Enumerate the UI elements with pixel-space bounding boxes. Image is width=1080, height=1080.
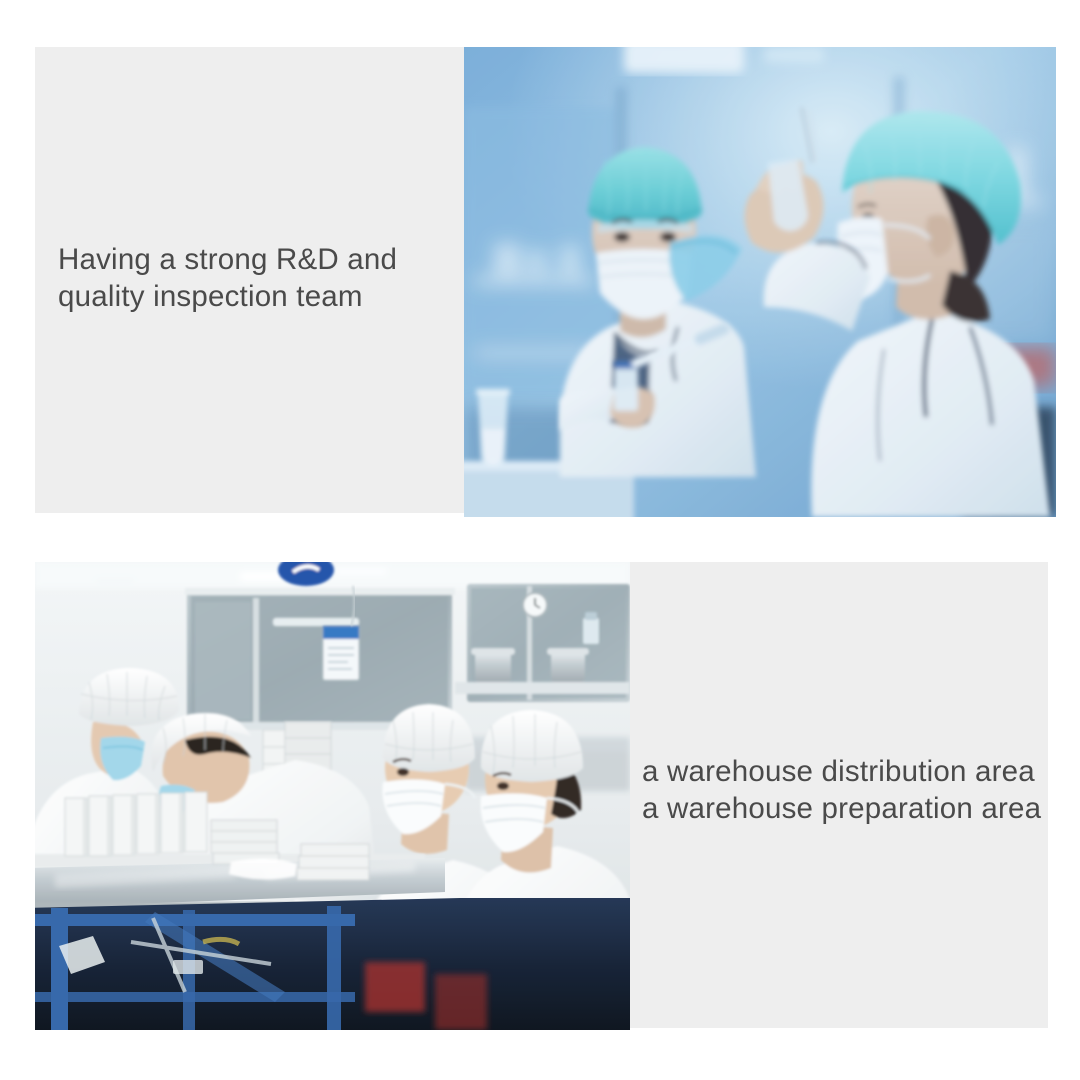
warehouse-photo-graphic xyxy=(35,562,630,1030)
lab-photo-graphic xyxy=(464,47,1056,517)
lab-quality-inspection-photo xyxy=(464,47,1056,517)
top-section: Having a strong R&D and quality inspecti… xyxy=(0,0,1080,540)
bottom-section: a warehouse distribution area a warehous… xyxy=(0,540,1080,1080)
top-caption-text: Having a strong R&D and quality inspecti… xyxy=(58,241,458,315)
bottom-caption-text: a warehouse distribution area a warehous… xyxy=(642,753,1062,827)
warehouse-packing-photo xyxy=(35,562,630,1030)
